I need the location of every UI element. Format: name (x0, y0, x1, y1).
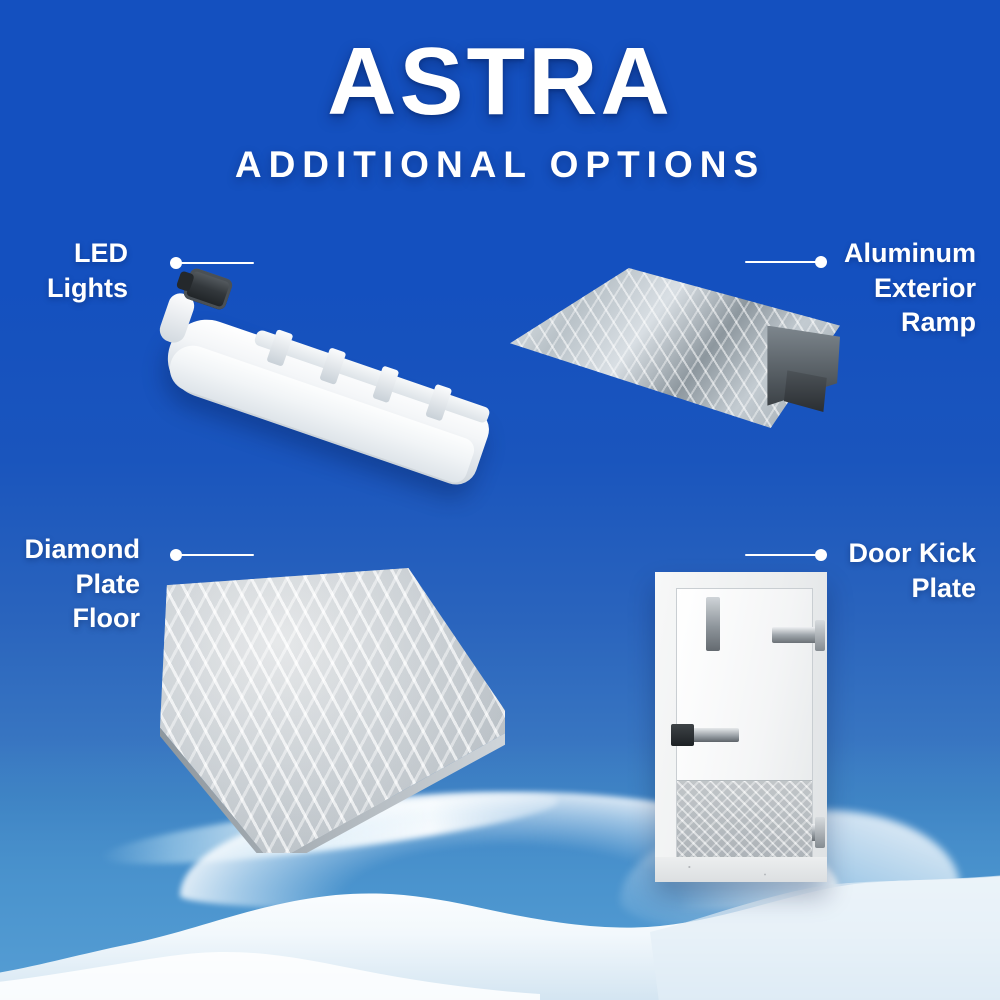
door-frame (655, 572, 827, 882)
led-light-fixture-image (160, 265, 530, 450)
door-top-latch (706, 597, 720, 652)
door-leaf (676, 588, 814, 864)
snow-ridge-icon (0, 860, 1000, 1000)
callout-label-led-lights: LED Lights (0, 236, 128, 305)
door-kick-plate (677, 780, 813, 862)
led-housing (157, 309, 494, 490)
astra-additional-options-poster: ASTRA ADDITIONAL OPTIONS LED Lights Alum… (0, 0, 1000, 1000)
connector-line (180, 262, 254, 264)
aluminum-ramp-image (510, 268, 840, 428)
door-handle (671, 728, 739, 742)
connector-diamond-plate-floor (170, 548, 254, 562)
connector-line (180, 554, 254, 556)
page-subtitle: ADDITIONAL OPTIONS (0, 144, 1000, 186)
door-floor-strip (655, 857, 827, 882)
diamond-plate-floor-image (160, 568, 505, 853)
door-hinge-top (772, 627, 821, 643)
diamond-plate-surface (160, 568, 505, 853)
callout-label-diamond-plate-floor: Diamond Plate Floor (0, 532, 140, 636)
headline-block: ASTRA ADDITIONAL OPTIONS (0, 0, 1000, 186)
cold-room-door-image (655, 572, 827, 882)
page-title: ASTRA (0, 38, 1000, 126)
